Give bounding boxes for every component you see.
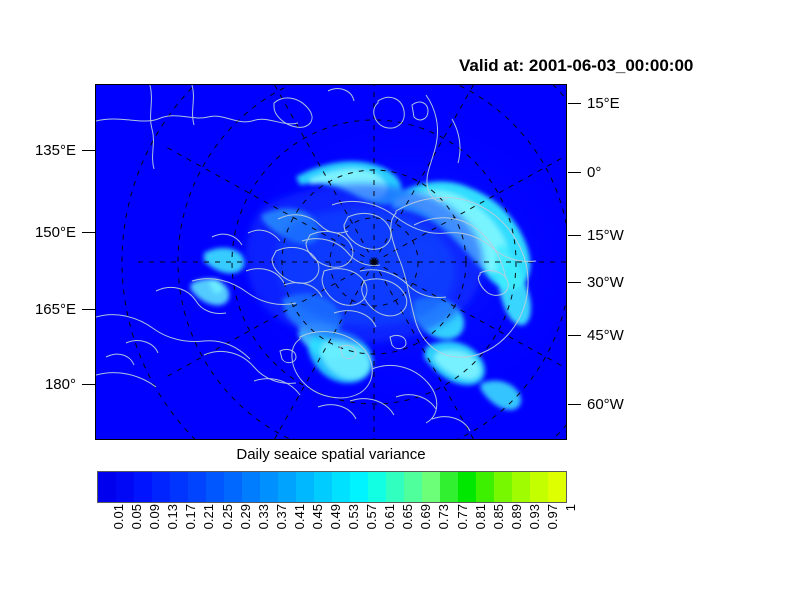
colorbar-gradient <box>97 471 567 503</box>
colorbar-tick-0-65: 0.65 <box>400 504 415 529</box>
colorbar-band-14 <box>350 472 368 502</box>
colorbar-tick-0-57: 0.57 <box>364 504 379 529</box>
colorbar-band-24 <box>530 472 548 502</box>
colorbar-band-6 <box>206 472 224 502</box>
colorbar-band-16 <box>386 472 404 502</box>
colorbar-tick-0-97: 0.97 <box>545 504 560 529</box>
colorbar-band-19 <box>440 472 458 502</box>
colorbar-tick-0-77: 0.77 <box>455 504 470 529</box>
colorbar-tick-0-69: 0.69 <box>418 504 433 529</box>
colorbar-band-4 <box>170 472 188 502</box>
colorbar-band-2 <box>134 472 152 502</box>
axis-label-right-45w: 45°W <box>587 327 624 344</box>
colorbar-tick-0-61: 0.61 <box>382 504 397 529</box>
axis-label-right-60w: 60°W <box>587 396 624 413</box>
colorbar-tick-0-33: 0.33 <box>256 504 271 529</box>
colorbar-band-18 <box>422 472 440 502</box>
colorbar-band-3 <box>152 472 170 502</box>
colorbar-band-23 <box>512 472 530 502</box>
colorbar-tick-0-41: 0.41 <box>292 504 307 529</box>
colorbar-tick-0-73: 0.73 <box>436 504 451 529</box>
axis-label-left-180: 180° <box>18 376 76 393</box>
variance-mid-haze <box>246 184 483 343</box>
colorbar-band-5 <box>188 472 206 502</box>
axis-label-left-165e: 165°E <box>18 301 76 318</box>
map-plot-area <box>95 84 567 440</box>
colorbar-tick-labels: 0.010.050.090.130.170.210.250.290.330.37… <box>97 504 567 564</box>
colorbar-band-0 <box>98 472 116 502</box>
colorbar-band-7 <box>224 472 242 502</box>
colorbar-band-9 <box>260 472 278 502</box>
axis-tick-right-30w <box>568 282 581 283</box>
axis-label-right-30w: 30°W <box>587 274 624 291</box>
colorbar-tick-0-01: 0.01 <box>111 504 126 529</box>
colorbar-band-13 <box>332 472 350 502</box>
axis-label-left-150e: 150°E <box>18 224 76 241</box>
axis-tick-left-180 <box>82 384 95 385</box>
colorbar-band-10 <box>278 472 296 502</box>
colorbar-tick-0-85: 0.85 <box>491 504 506 529</box>
axis-tick-right-15w <box>568 235 581 236</box>
colorbar-tick-0-13: 0.13 <box>165 504 180 529</box>
axis-label-right-15e: 15°E <box>587 95 620 112</box>
map-caption: Daily seaice spatial variance <box>95 446 567 463</box>
colorbar-tick-0-17: 0.17 <box>183 504 198 529</box>
colorbar-tick-0-81: 0.81 <box>473 504 488 529</box>
axis-tick-left-135e <box>82 150 95 151</box>
colorbar-tick-0-53: 0.53 <box>346 504 361 529</box>
axis-tick-right-15e <box>568 103 581 104</box>
colorbar-band-21 <box>476 472 494 502</box>
axis-label-right-15w: 15°W <box>587 227 624 244</box>
colorbar-band-20 <box>458 472 476 502</box>
colorbar-tick-0-49: 0.49 <box>328 504 343 529</box>
axis-tick-right-0 <box>568 172 581 173</box>
figure-canvas: Valid at: 2001-06-03_00:00:00 135°E 150°… <box>0 0 792 612</box>
axis-label-left-135e: 135°E <box>18 142 76 159</box>
map-svg <box>96 85 566 439</box>
colorbar-tick-0-21: 0.21 <box>201 504 216 529</box>
axis-tick-left-165e <box>82 309 95 310</box>
colorbar-tick-1: 1 <box>563 504 578 511</box>
page-title: Valid at: 2001-06-03_00:00:00 <box>459 56 693 76</box>
colorbar-tick-0-25: 0.25 <box>220 504 235 529</box>
axis-label-right-0: 0° <box>587 164 601 181</box>
colorbar-band-17 <box>404 472 422 502</box>
colorbar-tick-0-37: 0.37 <box>274 504 289 529</box>
colorbar-tick-0-89: 0.89 <box>509 504 524 529</box>
colorbar-band-25 <box>548 472 566 502</box>
axis-tick-right-60w <box>568 404 581 405</box>
colorbar <box>97 471 567 503</box>
colorbar-band-11 <box>296 472 314 502</box>
colorbar-band-1 <box>116 472 134 502</box>
colorbar-band-12 <box>314 472 332 502</box>
pole-marker <box>371 259 377 265</box>
colorbar-tick-0-93: 0.93 <box>527 504 542 529</box>
colorbar-tick-0-09: 0.09 <box>147 504 162 529</box>
axis-tick-right-45w <box>568 335 581 336</box>
colorbar-band-8 <box>242 472 260 502</box>
colorbar-band-22 <box>494 472 512 502</box>
colorbar-tick-0-05: 0.05 <box>129 504 144 529</box>
colorbar-tick-0-29: 0.29 <box>238 504 253 529</box>
axis-tick-left-150e <box>82 232 95 233</box>
colorbar-tick-0-45: 0.45 <box>310 504 325 529</box>
colorbar-band-15 <box>368 472 386 502</box>
